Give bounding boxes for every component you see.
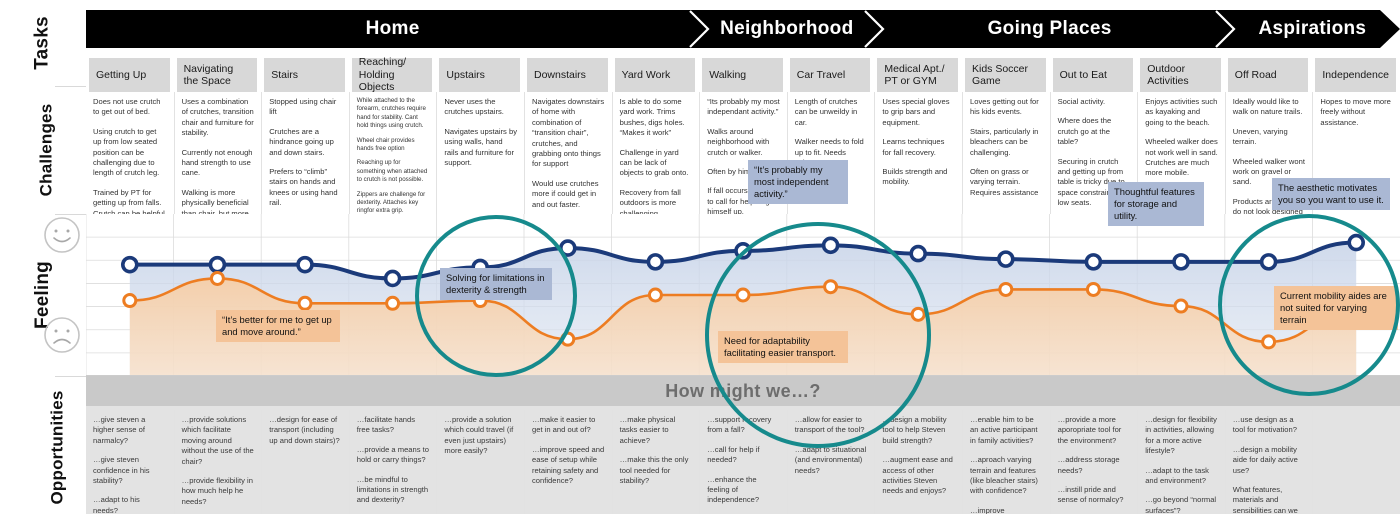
challenge-item: “Its probably my most independant activi…: [707, 97, 780, 118]
task-header-label: Navigating the Space: [184, 63, 251, 88]
challenge-item: Social activity.: [1058, 97, 1131, 107]
challenge-item: Recovery from fall outdoors is more chal…: [620, 188, 693, 214]
opportunity-item: …design for ease of transport (including…: [269, 415, 342, 446]
chart-point-1-10[interactable]: [1000, 283, 1012, 295]
task-header-3[interactable]: Reaching/ Holding Objects: [352, 58, 433, 92]
challenge-item: Challenge in yard can be lack of objects…: [620, 148, 693, 179]
phase-label: Home: [366, 18, 420, 40]
task-header-8[interactable]: Car Travel: [790, 58, 871, 92]
challenge-item: Ideally would like to walk on nature tra…: [1233, 97, 1306, 118]
challenge-item: Navigates downstairs of home with combin…: [532, 97, 605, 170]
challenge-item: Enjoys activities such as kayaking and g…: [1145, 97, 1218, 128]
challenge-item: Never uses the crutches upstairs.: [444, 97, 517, 118]
opportunities-cell-5: …make it easier to get in and out of?…im…: [524, 410, 612, 514]
challenge-item: Wheeled walker does not work well in san…: [1145, 137, 1218, 179]
task-header-label: Off Road: [1235, 69, 1277, 82]
phase-label: Going Places: [988, 18, 1112, 40]
phase-label: Neighborhood: [720, 18, 853, 40]
challenge-item: Where does the crutch go at the table?: [1058, 116, 1131, 147]
task-header-0[interactable]: Getting Up: [89, 58, 170, 92]
chart-point-0-9[interactable]: [911, 247, 925, 261]
challenge-item: Navigates upstairs by using walls, hand …: [444, 127, 517, 169]
opportunity-item: …design for flexibility in activities, a…: [1145, 415, 1218, 457]
challenge-item: Stairs, particularly in bleachers can be…: [970, 127, 1043, 158]
opportunity-item: …enable him to be an active participant …: [970, 415, 1043, 446]
opportunities-cell-14: [1312, 410, 1400, 514]
opportunity-item: …improve independent movement?: [970, 506, 1043, 514]
challenge-item: Often on grass or varying terrain. Requi…: [970, 167, 1043, 198]
task-header-label: Upstairs: [446, 69, 485, 82]
opportunity-item: …augment ease and access of other activi…: [882, 455, 955, 497]
task-header-label: Independence: [1322, 69, 1389, 82]
challenge-item: Using crutch to get up from low seated p…: [93, 127, 167, 179]
frowning-face-icon: [42, 315, 82, 355]
task-header-13[interactable]: Off Road: [1228, 58, 1309, 92]
challenge-item: Stopped using chair lift: [269, 97, 342, 118]
task-header-label: Getting Up: [96, 69, 146, 82]
smiley-face-icon: [42, 215, 82, 255]
opportunities-cell-4: …provide a solution which could travel (…: [436, 410, 524, 514]
challenge-item: Walking is more physically beneficial th…: [182, 188, 255, 214]
challenges-cell-10: Loves getting out for his kids events.St…: [962, 92, 1050, 214]
opportunity-item: …adapt to his needs?: [93, 495, 167, 514]
highlight-circle-1: [705, 222, 931, 448]
task-header-label: Walking: [709, 69, 746, 82]
challenge-item: Builds strength and mobility.: [882, 167, 955, 188]
opportunity-item: …be mindful to limitations in strength a…: [357, 475, 430, 506]
opportunity-item: …make physical tasks easier to achieve?: [620, 415, 693, 446]
task-header-label: Car Travel: [797, 69, 845, 82]
challenges-cell-1: Uses a combination of crutches, transiti…: [174, 92, 262, 214]
chart-point-1-1[interactable]: [211, 272, 223, 284]
callout-2: The aesthetic motivates you so you want …: [1272, 178, 1390, 210]
opportunity-item: …call for help if needed?: [707, 445, 780, 466]
opportunity-item: …provide a more aporopriate tool for the…: [1058, 415, 1131, 446]
chart-point-0-0[interactable]: [123, 258, 137, 272]
chart-point-0-11[interactable]: [1086, 255, 1100, 269]
task-header-7[interactable]: Walking: [702, 58, 783, 92]
rail-divider: [55, 376, 86, 377]
chart-point-0-1[interactable]: [210, 258, 224, 272]
opportunity-item: …use design as a tool for motivation?: [1233, 415, 1306, 436]
task-header-label: Stairs: [271, 69, 298, 82]
challenge-item: Does not use crutch to get out of bed.: [93, 97, 167, 118]
challenge-item: Uneven, varying terrain.: [1233, 127, 1306, 148]
row-label-challenges: Challenges: [0, 86, 86, 214]
challenge-item: Walks around neighborhood with crutch or…: [707, 127, 780, 158]
row-label-tasks-text: Tasks: [0, 16, 86, 69]
rail-divider: [55, 86, 86, 87]
chart-point-1-3[interactable]: [387, 297, 399, 309]
opportunities-cell-13: …use design as a tool for motivation?…de…: [1225, 410, 1313, 514]
challenge-item: Would use crutches more if could get in …: [532, 179, 605, 210]
challenge-item: Crutches are a hindrance going up and do…: [269, 127, 342, 158]
row-label-opportunities: Opportunities: [0, 376, 86, 519]
journey-map: Tasks Challenges Feeling Opportunities: [0, 0, 1400, 519]
callout-1: Thoughtful features for storage and util…: [1108, 182, 1204, 226]
task-header-label: Reaching/ Holding Objects: [359, 56, 426, 94]
opportunity-item: …make this the only tool needed for stab…: [620, 455, 693, 486]
chart-point-0-3[interactable]: [386, 271, 400, 285]
challenges-cell-5: Navigates downstairs of home with combin…: [524, 92, 612, 214]
opportunity-item: …design a mobility tool to help Steven b…: [882, 415, 955, 446]
opportunities-cell-12: …design for flexibility in activities, a…: [1137, 410, 1225, 514]
opportunity-item: …give steven a higher sense of narmalcy?: [93, 415, 167, 446]
challenges-cell-6: Is able to do some yard work. Trims bush…: [612, 92, 700, 214]
opportunity-item: …adapt to situational (and environmental…: [795, 445, 868, 476]
highlight-circle-0: [415, 215, 577, 377]
callout-0: “It’s probably my most independent activ…: [748, 160, 848, 204]
opportunity-item: …provide flexibility in how much help he…: [182, 476, 255, 507]
row-label-tasks: Tasks: [0, 0, 86, 86]
opportunity-item: …make it easier to get in and out of?: [532, 415, 605, 436]
task-header-label: Out to Eat: [1060, 69, 1107, 82]
chart-point-1-12[interactable]: [1175, 300, 1187, 312]
challenge-item: Currently not enough hand strength to us…: [182, 148, 255, 179]
challenge-item: Trained by PT for getting up from falls.…: [93, 188, 167, 214]
opportunity-item: …design a mobility aide for daily active…: [1233, 445, 1306, 476]
challenge-item: Uses special gloves to grip bars and equ…: [882, 97, 955, 128]
challenge-item: Is able to do some yard work. Trims bush…: [620, 97, 693, 139]
challenge-item: Prefers to “climb” stairs on hands and k…: [269, 167, 342, 209]
highlight-circle-2: [1218, 214, 1400, 396]
task-header-label: Yard Work: [622, 69, 671, 82]
task-header-2[interactable]: Stairs: [264, 58, 345, 92]
opportunity-item: …provide a means to hold or carry things…: [357, 445, 430, 466]
challenge-item: Reaching up for something when attached …: [357, 159, 430, 184]
task-header-4[interactable]: Upstairs: [439, 58, 520, 92]
opportunities-cell-9: …design a mobility tool to help Steven b…: [874, 410, 962, 514]
opportunity-item: What features, materials and sensibiliti…: [1233, 485, 1306, 514]
opportunity-item: …give steven confidence in his stability…: [93, 455, 167, 486]
task-header-5[interactable]: Downstairs: [527, 58, 608, 92]
task-header-label: Kids Soccer Game: [972, 63, 1039, 88]
opportunities-cell-11: …provide a more aporopriate tool for the…: [1050, 410, 1138, 514]
challenge-item: Learns techniques for fall recovery.: [882, 137, 955, 158]
challenge-item: Length of crutches can be unweildy in ca…: [795, 97, 868, 128]
opportunity-item: …aproach varying terrain and features (l…: [970, 455, 1043, 497]
task-header-11[interactable]: Out to Eat: [1053, 58, 1134, 92]
chart-point-1-0[interactable]: [124, 295, 136, 307]
opportunities-cell-3: …facilitate hands free tasks?…provide a …: [349, 410, 437, 514]
opportunity-item: …provide solutions which facilitate movi…: [182, 415, 255, 467]
task-header-label: Downstairs: [534, 69, 586, 82]
opportunities-cell-0: …give steven a higher sense of narmalcy?…: [86, 410, 174, 514]
task-header-9[interactable]: Medical Apt./ PT or GYM: [877, 58, 958, 92]
row-label-rail: Tasks Challenges Feeling Opportunities: [0, 0, 86, 519]
opportunity-item: …adapt to the task and environment?: [1145, 466, 1218, 487]
task-header-1[interactable]: Navigating the Space: [177, 58, 258, 92]
challenges-cell-4: Never uses the crutches upstairs.Navigat…: [436, 92, 524, 214]
challenge-item: While attached to the forearm, crutches …: [357, 97, 430, 131]
chart-point-1-6[interactable]: [649, 289, 661, 301]
opportunity-item: …instill pride and sense of normalcy?: [1058, 485, 1131, 506]
chart-point-0-6[interactable]: [648, 255, 662, 269]
chart-point-0-2[interactable]: [298, 258, 312, 272]
opportunity-item: …facilitate hands free tasks?: [357, 415, 430, 436]
task-header-10[interactable]: Kids Soccer Game: [965, 58, 1046, 92]
chart-point-0-10[interactable]: [999, 252, 1013, 266]
chart-point-1-2[interactable]: [299, 297, 311, 309]
challenge-item: Zippers are challenge for dexterity. Att…: [357, 191, 430, 214]
chart-point-0-12[interactable]: [1174, 255, 1188, 269]
challenges-cell-9: Uses special gloves to grip bars and equ…: [874, 92, 962, 214]
challenge-item: Hopes to move more freely without assist…: [1320, 97, 1393, 128]
task-header-12[interactable]: Outdoor Activities: [1140, 58, 1221, 92]
opportunities-cell-10: …enable him to be an active participant …: [962, 410, 1050, 514]
callout-4: “It’s better for me to get up and move a…: [216, 310, 340, 342]
opportunity-item: …address storage needs?: [1058, 455, 1131, 476]
opportunities-cell-2: …design for ease of transport (including…: [261, 410, 349, 514]
opportunity-item: …provide a solution which could travel (…: [444, 415, 517, 457]
opportunity-item: …enhance the feeling of independence?: [707, 475, 780, 506]
challenges-cell-3: While attached to the forearm, crutches …: [349, 92, 437, 214]
opportunities-cell-1: …provide solutions which facilitate movi…: [174, 410, 262, 514]
task-header-6[interactable]: Yard Work: [615, 58, 696, 92]
task-header-14[interactable]: Independence: [1315, 58, 1396, 92]
challenges-cell-2: Stopped using chair liftCrutches are a h…: [261, 92, 349, 214]
chart-point-1-11[interactable]: [1087, 283, 1099, 295]
opportunities-cell-6: …make physical tasks easier to achieve?……: [612, 410, 700, 514]
opportunity-item: …go beyond “normal surfaces”?: [1145, 495, 1218, 514]
opportunity-item: …improve speed and ease of setup while r…: [532, 445, 605, 487]
challenge-item: Wheel chair provides hands free option: [357, 137, 430, 154]
task-header-label: Medical Apt./ PT or GYM: [884, 63, 951, 88]
task-header-label: Outdoor Activities: [1147, 63, 1214, 88]
challenge-item: Uses a combination of crutches, transiti…: [182, 97, 255, 139]
challenge-item: Loves getting out for his kids events.: [970, 97, 1043, 118]
challenges-cell-0: Does not use crutch to get out of bed.Us…: [86, 92, 174, 214]
